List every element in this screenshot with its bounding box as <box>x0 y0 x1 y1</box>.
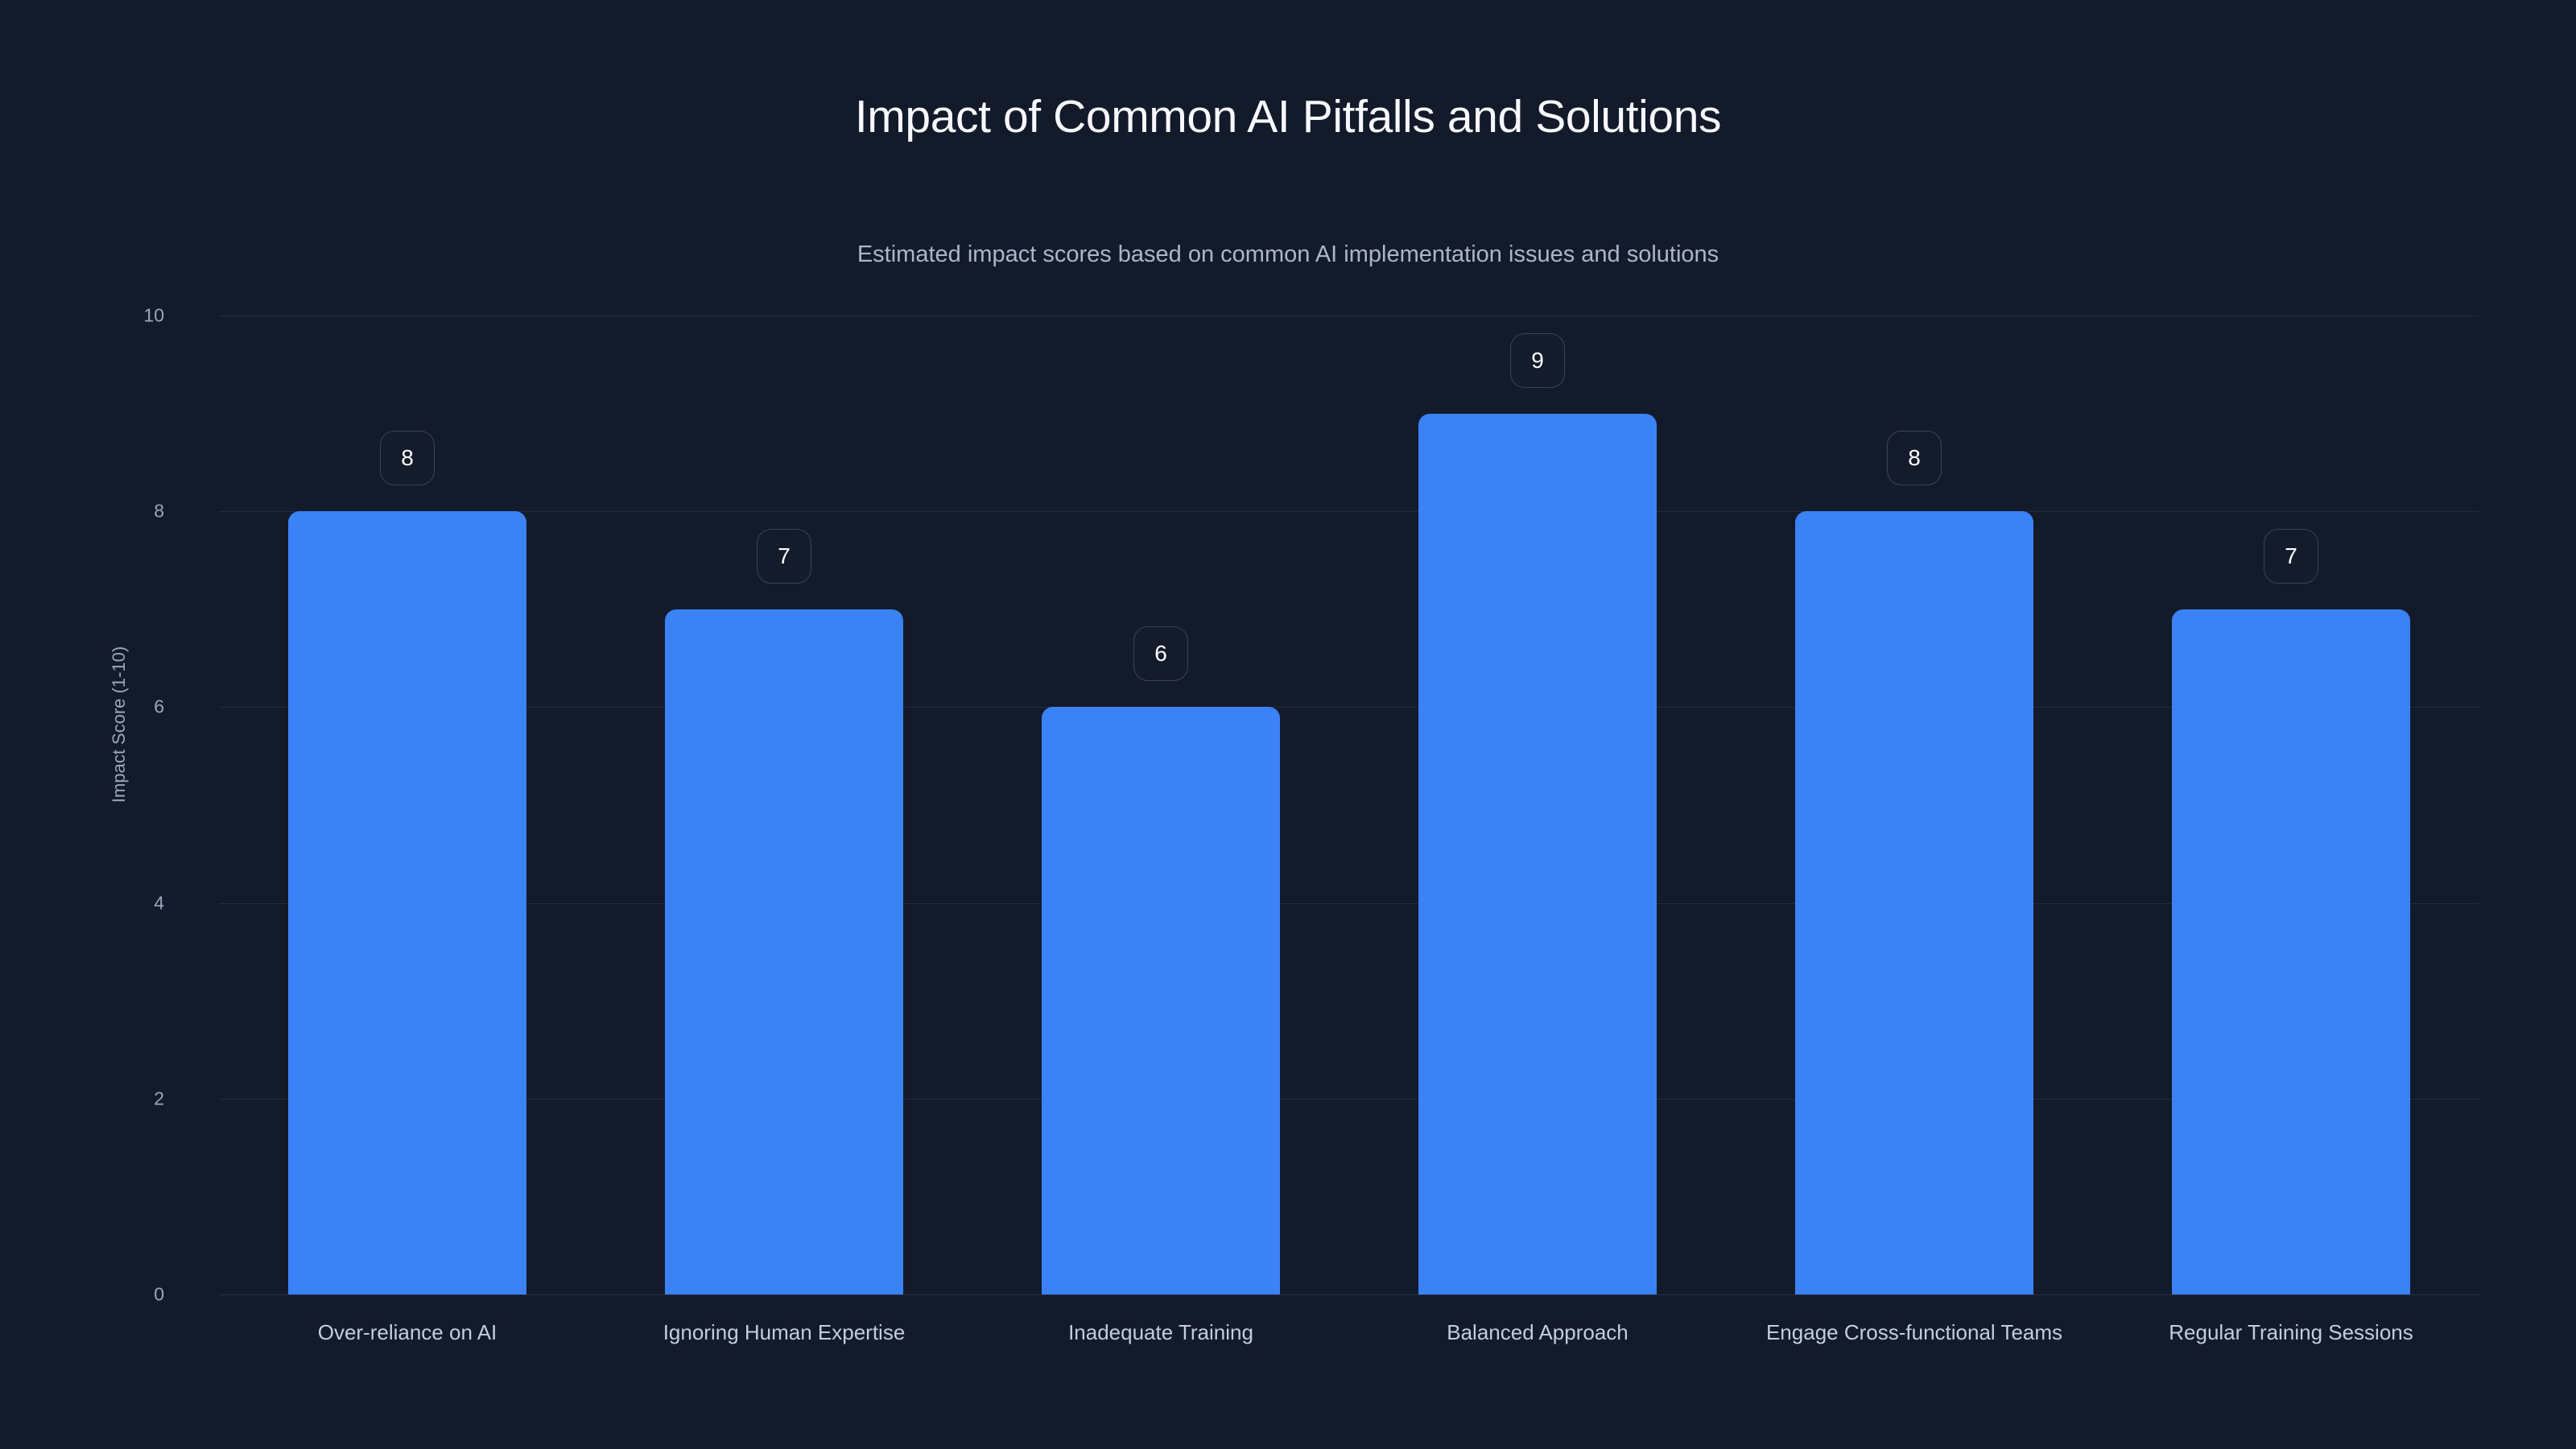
plot-area: 876987 <box>219 316 2479 1294</box>
x-axis-category-label: Balanced Approach <box>1447 1320 1629 1345</box>
chart-page: Impact of Common AI Pitfalls and Solutio… <box>0 0 2576 1449</box>
bar-group[interactable]: 6 <box>1042 316 1280 1294</box>
gridline <box>219 1294 2479 1295</box>
bar[interactable] <box>1418 414 1657 1294</box>
x-axis-category-label: Regular Training Sessions <box>2169 1320 2413 1345</box>
bar[interactable] <box>288 511 526 1294</box>
y-axis-tick-labels: 1086420 <box>0 316 201 1294</box>
y-axis-tick-label: 2 <box>154 1088 164 1109</box>
y-axis-tick-label: 4 <box>154 892 164 914</box>
bar[interactable] <box>1795 511 2033 1294</box>
x-axis-category-label: Inadequate Training <box>1068 1320 1253 1345</box>
bar-value-badge: 7 <box>757 529 811 584</box>
bar-value-badge: 8 <box>1887 431 1942 485</box>
bar-group[interactable]: 9 <box>1418 316 1657 1294</box>
x-axis-category-label: Engage Cross-functional Teams <box>1766 1320 2062 1345</box>
bar-value-badge: 9 <box>1510 333 1565 388</box>
bar[interactable] <box>1042 707 1280 1294</box>
bar-group[interactable]: 8 <box>288 316 526 1294</box>
bar-value-badge: 7 <box>2264 529 2318 584</box>
bar-series: 876987 <box>219 316 2479 1294</box>
x-axis-category-label: Ignoring Human Expertise <box>663 1320 906 1345</box>
bar[interactable] <box>2172 609 2410 1294</box>
y-axis-tick-label: 10 <box>143 305 164 327</box>
page-title: Impact of Common AI Pitfalls and Solutio… <box>0 90 2576 143</box>
x-axis-category-label: Over-reliance on AI <box>318 1320 497 1345</box>
bar-group[interactable]: 8 <box>1795 316 2033 1294</box>
bar-value-badge: 8 <box>380 431 435 485</box>
bar-value-badge: 6 <box>1133 626 1188 681</box>
bar-group[interactable]: 7 <box>665 316 903 1294</box>
y-axis-tick-label: 0 <box>154 1284 164 1306</box>
bar-group[interactable]: 7 <box>2172 316 2410 1294</box>
y-axis-tick-label: 8 <box>154 501 164 522</box>
chart-subtitle: Estimated impact scores based on common … <box>0 242 2576 268</box>
x-axis-category-labels: Over-reliance on AIIgnoring Human Expert… <box>219 1320 2479 1368</box>
bar[interactable] <box>665 609 903 1294</box>
y-axis-tick-label: 6 <box>154 696 164 718</box>
